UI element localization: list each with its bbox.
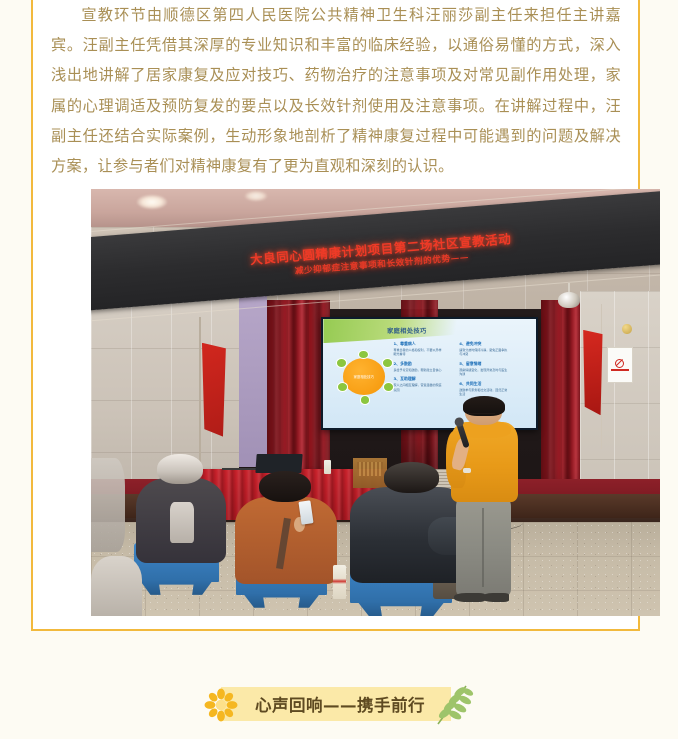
audience-body [136,478,226,563]
audience-head [384,462,439,492]
event-photo: ☆ ☆ ☆ ☆ ☆ ★ 家庭相处技巧 家庭相处技巧 [91,189,660,616]
section-banner: 心声回响——携手前行 [204,684,468,724]
slide-item-heading: 5、留意情绪 [459,361,510,367]
water-bottle-on-floor [333,565,347,599]
audience-member-partial-bottom [91,556,142,616]
audience-member-partial-left [91,458,125,552]
slide-column-right: 4、避免冲突 遇到分歧时保持冷静，避免正面争执与冲突 5、留意情绪 观察情绪变化… [459,341,510,400]
audience-member [233,471,341,608]
slide-hub-dot [360,395,371,405]
slide-item-body: 多给予肯定和鼓励，帮助建立自信心 [393,368,444,373]
slide-hub-dot [382,358,393,368]
slide-item-body: 家人之间相互理解，营造温馨的家庭氛围 [393,383,444,392]
photo-scene: ☆ ☆ ☆ ☆ ☆ ★ 家庭相处技巧 家庭相处技巧 [91,189,660,616]
speaker-shoe [482,593,509,602]
audience-head [157,454,202,484]
slide-item-heading: 3、互助理解 [393,376,444,382]
slide-item-heading: 2、多鼓励 [393,361,444,367]
slide-item: 2、多鼓励 多给予肯定和鼓励，帮助建立自信心 [393,361,444,373]
no-smoking-sign [607,347,633,383]
dome-camera-dome [558,292,581,308]
slide-hub-dot [336,358,347,368]
slide-hub-dot [383,382,394,392]
left-flag-pole [199,317,201,462]
slide-item-body: 遇到分歧时保持冷静，避免正面争执与冲突 [459,348,510,357]
audience-body [235,497,337,584]
slide-item-heading: 6、共同生活 [459,381,510,387]
shoulder-bag-strap [276,518,291,569]
wall-knob [622,324,631,334]
speaker-shoe [454,593,485,602]
audience-member [131,454,233,591]
slide-item-body: 观察情绪变化，发现异常及时与医生沟通 [459,368,510,377]
no-smoking-sign-text-bar [611,369,629,372]
purple-pillar [239,296,267,467]
slide-hub-label: 家庭相处技巧 [343,358,385,395]
slide-title: 家庭相处技巧 [387,326,427,335]
no-smoking-icon [615,359,624,368]
section-banner-title: 心声回响——携手前行 [204,684,468,724]
slide-item-heading: 4、避免冲突 [459,341,510,347]
article-body: 宣教环节由顺德区第四人民医院公共精神卫生科汪丽莎副主任来担任主讲嘉宾。汪副主任凭… [51,0,621,181]
article-paragraph: 宣教环节由顺德区第四人民医院公共精神卫生科汪丽莎副主任来担任主讲嘉宾。汪副主任凭… [51,0,621,181]
slide-item-heading: 1、尊重病人 [393,341,444,347]
chinese-flag-left [202,343,226,437]
slide-hub-circle: 家庭相处技巧 [343,358,385,395]
slide-item: 4、避免冲突 遇到分歧时保持冷静，避免正面争执与冲突 [459,341,510,357]
slide-column-left: 1、尊重病人 尊重患者的人格和权利，不要以异样眼光看待 2、多鼓励 多给予肯定和… [393,341,444,396]
slide-item: 3、互助理解 家人之间相互理解，营造温馨的家庭氛围 [393,376,444,392]
audience-inner-shirt [170,502,193,543]
slide-item: 5、留意情绪 观察情绪变化，发现异常及时与医生沟通 [459,361,510,377]
dome-camera-icon [558,283,581,309]
speaker-legs [456,497,511,595]
slide-item: 6、共同生活 鼓励参与家务和社交活动，回归正常生活 [459,381,510,397]
speaker-wristband [463,468,471,473]
chinese-flag-right [583,330,602,415]
slide-item-body: 尊重患者的人格和权利，不要以异样眼光看待 [393,348,444,357]
speaker-glasses [468,409,495,414]
speaker-presenter [438,398,529,603]
audience-head [259,471,311,502]
slide-item: 1、尊重病人 尊重患者的人格和权利，不要以异样眼光看待 [393,341,444,357]
ceiling-light-secondary [245,191,268,200]
slide-swoosh-decoration [323,319,535,343]
